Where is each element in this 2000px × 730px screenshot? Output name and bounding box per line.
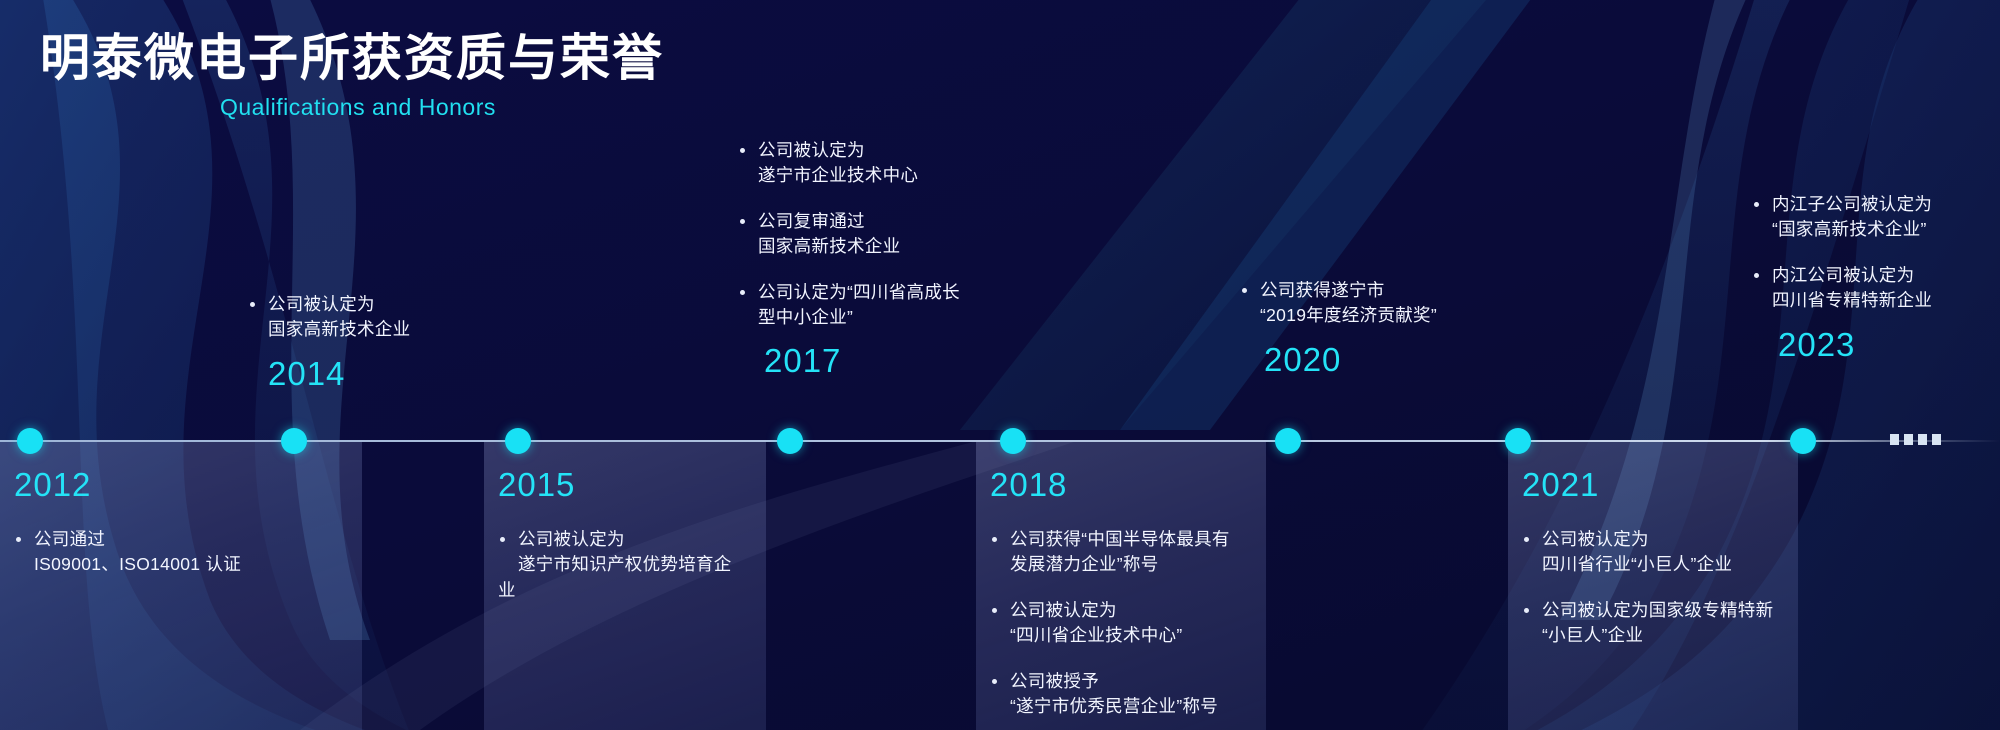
bullet-list-2018: 公司获得“中国半导体最具有 发展潜力企业”称号 公司被认定为 “四川省企业技术中…: [990, 527, 1230, 719]
bullet-list-2012: 公司通过 IS09001、ISO14001 认证: [14, 527, 241, 578]
header: 明泰微电子所获资质与荣誉 Qualifications and Honors: [40, 30, 664, 121]
item-line: 公司复审通过: [758, 209, 960, 234]
list-item: 公司复审通过 国家高新技术企业: [738, 209, 960, 260]
item-line: 内江公司被认定为: [1772, 263, 1932, 288]
item-line: 公司通过: [34, 527, 241, 552]
timeline-node-2017[interactable]: [777, 428, 803, 454]
item-line: 公司被认定为: [268, 292, 410, 317]
timeline-node-2015[interactable]: [505, 428, 531, 454]
page-title: 明泰微电子所获资质与荣誉: [40, 30, 664, 88]
year-label-2023: 2023: [1778, 328, 1932, 361]
item-line: “2019年度经济贡献奖”: [1260, 303, 1437, 328]
item-line: 四川省专精特新企业: [1772, 288, 1932, 313]
list-item: 公司获得“中国半导体最具有 发展潜力企业”称号: [990, 527, 1230, 578]
timeline-node-2020[interactable]: [1275, 428, 1301, 454]
item-line: 遂宁市企业技术中心: [758, 163, 960, 188]
timeline-entry-2017[interactable]: 公司被认定为 遂宁市企业技术中心 公司复审通过 国家高新技术企业 公司认定为“四…: [738, 138, 960, 377]
item-line: 公司被认定为: [758, 138, 960, 163]
item-line: 公司认定为“四川省高成长: [758, 280, 960, 305]
axis-dash: [1890, 434, 1899, 445]
timeline-node-2012[interactable]: [17, 428, 43, 454]
bullet-list-2021: 公司被认定为 四川省行业“小巨人”企业 公司被认定为国家级专精特新 “小巨人”企…: [1522, 527, 1773, 649]
timeline-node-2021[interactable]: [1505, 428, 1531, 454]
item-line: 公司被认定为: [518, 527, 732, 552]
timeline-node-2023[interactable]: [1790, 428, 1816, 454]
bullet-list-2023: 内江子公司被认定为 “国家高新技术企业” 内江公司被认定为 四川省专精特新企业: [1752, 192, 1932, 314]
list-item: 公司被授予 “遂宁市优秀民营企业”称号: [990, 669, 1230, 720]
timeline-entry-2018[interactable]: 2018 公司获得“中国半导体最具有 发展潜力企业”称号 公司被认定为 “四川省…: [990, 468, 1230, 719]
item-line: 型中小企业”: [758, 305, 960, 330]
list-item: 内江公司被认定为 四川省专精特新企业: [1752, 263, 1932, 314]
item-line: 遂宁市知识产权优势培育企: [518, 552, 732, 577]
item-line: IS09001、ISO14001 认证: [34, 552, 241, 577]
item-line: 公司被认定为国家级专精特新: [1542, 598, 1773, 623]
list-item: 公司被认定为 遂宁市知识产权优势培育企 业: [498, 527, 732, 603]
timeline-entry-2014[interactable]: 公司被认定为 国家高新技术企业 2014: [248, 292, 410, 390]
list-item: 公司被认定为 “四川省企业技术中心”: [990, 598, 1230, 649]
timeline-entry-2012[interactable]: 2012 公司通过 IS09001、ISO14001 认证: [14, 468, 241, 578]
timeline-entry-2015[interactable]: 2015 公司被认定为 遂宁市知识产权优势培育企 业: [498, 468, 732, 603]
item-line: 国家高新技术企业: [268, 317, 410, 342]
year-label-2012: 2012: [14, 468, 241, 501]
list-item: 公司被认定为 遂宁市企业技术中心: [738, 138, 960, 189]
year-label-2020: 2020: [1264, 343, 1437, 376]
item-line: 发展潜力企业”称号: [1010, 552, 1230, 577]
item-line: “小巨人”企业: [1542, 623, 1773, 648]
axis-dash: [1918, 434, 1927, 445]
year-label-2015: 2015: [498, 468, 732, 501]
bullet-list-2017: 公司被认定为 遂宁市企业技术中心 公司复审通过 国家高新技术企业 公司认定为“四…: [738, 138, 960, 330]
timeline-node-2014[interactable]: [281, 428, 307, 454]
bullet-list-2015: 公司被认定为 遂宁市知识产权优势培育企 业: [498, 527, 732, 603]
item-line: 内江子公司被认定为: [1772, 192, 1932, 217]
item-line: 公司获得“中国半导体最具有: [1010, 527, 1230, 552]
bullet-list-2014: 公司被认定为 国家高新技术企业: [248, 292, 410, 343]
timeline-entry-2023[interactable]: 内江子公司被认定为 “国家高新技术企业” 内江公司被认定为 四川省专精特新企业 …: [1752, 192, 1932, 361]
list-item: 公司认定为“四川省高成长 型中小企业”: [738, 280, 960, 331]
timeline-node-2018[interactable]: [1000, 428, 1026, 454]
year-label-2018: 2018: [990, 468, 1230, 501]
timeline-entry-2021[interactable]: 2021 公司被认定为 四川省行业“小巨人”企业 公司被认定为国家级专精特新 “…: [1522, 468, 1773, 649]
axis-dash: [1932, 434, 1941, 445]
year-label-2014: 2014: [268, 357, 410, 390]
list-item: 公司被认定为国家级专精特新 “小巨人”企业: [1522, 598, 1773, 649]
item-line: “国家高新技术企业”: [1772, 217, 1932, 242]
item-line: 公司被授予: [1010, 669, 1230, 694]
item-line: 公司被认定为: [1542, 527, 1773, 552]
item-line: 公司被认定为: [1010, 598, 1230, 623]
list-item: 公司通过 IS09001、ISO14001 认证: [14, 527, 241, 578]
item-line: 业: [498, 578, 732, 603]
list-item: 公司获得遂宁市 “2019年度经济贡献奖”: [1240, 278, 1437, 329]
timeline-entry-2020[interactable]: 公司获得遂宁市 “2019年度经济贡献奖” 2020: [1240, 278, 1437, 376]
year-label-2021: 2021: [1522, 468, 1773, 501]
list-item: 公司被认定为 国家高新技术企业: [248, 292, 410, 343]
page-subtitle: Qualifications and Honors: [220, 94, 664, 121]
item-line: 四川省行业“小巨人”企业: [1542, 552, 1773, 577]
axis-dash-trail: [1890, 434, 1941, 445]
year-label-2017: 2017: [764, 344, 960, 377]
item-line: 国家高新技术企业: [758, 234, 960, 259]
timeline-infographic: 明泰微电子所获资质与荣誉 Qualifications and Honors 2…: [0, 0, 2000, 730]
list-item: 内江子公司被认定为 “国家高新技术企业”: [1752, 192, 1932, 243]
list-item: 公司被认定为 四川省行业“小巨人”企业: [1522, 527, 1773, 578]
axis-dash: [1904, 434, 1913, 445]
item-line: “四川省企业技术中心”: [1010, 623, 1230, 648]
bullet-list-2020: 公司获得遂宁市 “2019年度经济贡献奖”: [1240, 278, 1437, 329]
item-line: “遂宁市优秀民营企业”称号: [1010, 694, 1230, 719]
item-line: 公司获得遂宁市: [1260, 278, 1437, 303]
